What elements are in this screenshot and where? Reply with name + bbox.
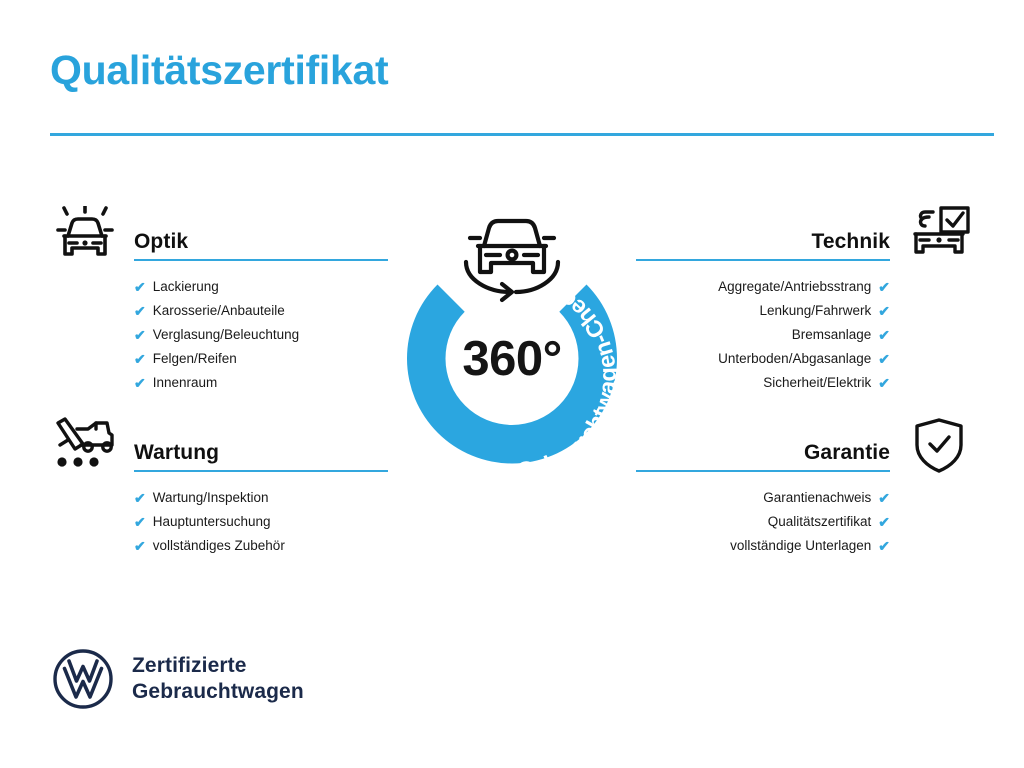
badge-center-value: 360° [372,335,652,384]
page-title: Qualitätszertifikat [50,50,388,91]
section-title-wrap: Optik [134,204,388,261]
section-underline [636,470,890,472]
check-icon: ✔ [134,328,146,342]
check-icon: ✔ [878,515,890,529]
car-service-pencil-icon [48,415,122,477]
section-header: Wartung [48,415,388,477]
list-item: ✔ Verglasung/Beleuchtung [134,328,388,342]
section-underline [636,259,890,261]
list-item-label: Garantienachweis [763,491,871,505]
list-item: ✔ Bremsanlage [636,328,890,342]
check-icon: ✔ [134,352,146,366]
list-item-label: Wartung/Inspektion [153,491,269,505]
list-item: ✔ Garantienachweis [636,491,890,505]
checklist-garantie: ✔ Garantienachweis ✔ Qualitätszertifikat… [636,491,976,553]
checklist-optik: ✔ Lackierung ✔ Karosserie/Anbauteile ✔ V… [48,280,388,390]
check-icon: ✔ [878,376,890,390]
certificate-page: Qualitätszertifikat [0,0,1024,768]
check-icon: ✔ [134,376,146,390]
list-item: ✔ vollständiges Zubehör [134,539,388,553]
check-icon: ✔ [878,491,890,505]
footer-line-1: Zertifizierte [132,653,304,679]
section-header: Technik [636,204,976,266]
list-item: ✔ Unterboden/Abgasanlage [636,352,890,366]
check-icon: ✔ [878,280,890,294]
section-wartung: Wartung ✔ Wartung/Inspektion ✔ Hauptunte… [48,415,388,563]
list-item: ✔ Qualitätszertifikat [636,515,890,529]
check-icon: ✔ [878,304,890,318]
check-icon: ✔ [878,328,890,342]
list-item: ✔ Sicherheit/Elektrik [636,376,890,390]
list-item: ✔ Hauptuntersuchung [134,515,388,529]
list-item: ✔ Wartung/Inspektion [134,491,388,505]
section-title: Wartung [134,441,388,464]
list-item-label: Verglasung/Beleuchtung [153,328,299,342]
list-item-label: Sicherheit/Elektrik [763,376,871,390]
check-icon: ✔ [134,539,146,553]
list-item-label: Hauptuntersuchung [153,515,271,529]
list-item: ✔ Felgen/Reifen [134,352,388,366]
check-icon: ✔ [134,280,146,294]
section-garantie: Garantie ✔ Garantienachweis ✔ Qualitätsz… [636,415,976,563]
section-technik: Technik ✔ Aggregate/Antriebsstrang ✔ Len… [636,204,976,400]
check-icon: ✔ [134,304,146,318]
section-title-wrap: Garantie [636,415,890,472]
list-item-label: Felgen/Reifen [153,352,237,366]
list-item: ✔ vollständige Unterlagen [636,539,890,553]
check-icon: ✔ [134,491,146,505]
list-item-label: Karosserie/Anbauteile [153,304,285,318]
section-title: Garantie [636,441,890,464]
section-title-wrap: Technik [636,204,890,261]
car-shine-icon [48,204,122,266]
vw-logo-icon [52,648,114,710]
list-item-label: Bremsanlage [792,328,872,342]
list-item: ✔ Karosserie/Anbauteile [134,304,388,318]
footer-logo-text: Zertifizierte Gebrauchtwagen [132,653,304,706]
section-underline [134,470,388,472]
car-rotate-icon [466,221,558,300]
list-item-label: Aggregate/Antriebsstrang [718,280,871,294]
section-title: Technik [636,230,890,253]
section-title-wrap: Wartung [134,415,388,472]
list-item-label: Lackierung [153,280,219,294]
list-item: ✔ Lackierung [134,280,388,294]
check-icon: ✔ [878,352,890,366]
footer-line-2: Gebrauchtwagen [132,679,304,705]
checklist-technik: ✔ Aggregate/Antriebsstrang ✔ Lenkung/Fah… [636,280,976,390]
list-item-label: vollständiges Zubehör [153,539,285,553]
title-divider [50,133,994,136]
section-optik: Optik ✔ Lackierung ✔ Karosserie/Anbautei… [48,204,388,400]
list-item-label: Innenraum [153,376,218,390]
list-item-label: Unterboden/Abgasanlage [718,352,871,366]
list-item-label: Qualitätszertifikat [768,515,872,529]
list-item: ✔ Innenraum [134,376,388,390]
section-header: Garantie [636,415,976,477]
list-item-label: vollständige Unterlagen [730,539,871,553]
list-item-label: Lenkung/Fahrwerk [759,304,871,318]
checklist-wartung: ✔ Wartung/Inspektion ✔ Hauptuntersuchung… [48,491,388,553]
list-item: ✔ Aggregate/Antriebsstrang [636,280,890,294]
section-header: Optik [48,204,388,266]
check-icon: ✔ [878,539,890,553]
list-item: ✔ Lenkung/Fahrwerk [636,304,890,318]
shield-check-icon [902,415,976,477]
badge-360-gebrauchtwagen-check: Gebrauchtwagen-Check [372,192,652,492]
car-checkbox-icon [902,204,976,266]
section-title: Optik [134,230,388,253]
check-icon: ✔ [134,515,146,529]
footer-logo: Zertifizierte Gebrauchtwagen [52,648,304,710]
section-underline [134,259,388,261]
